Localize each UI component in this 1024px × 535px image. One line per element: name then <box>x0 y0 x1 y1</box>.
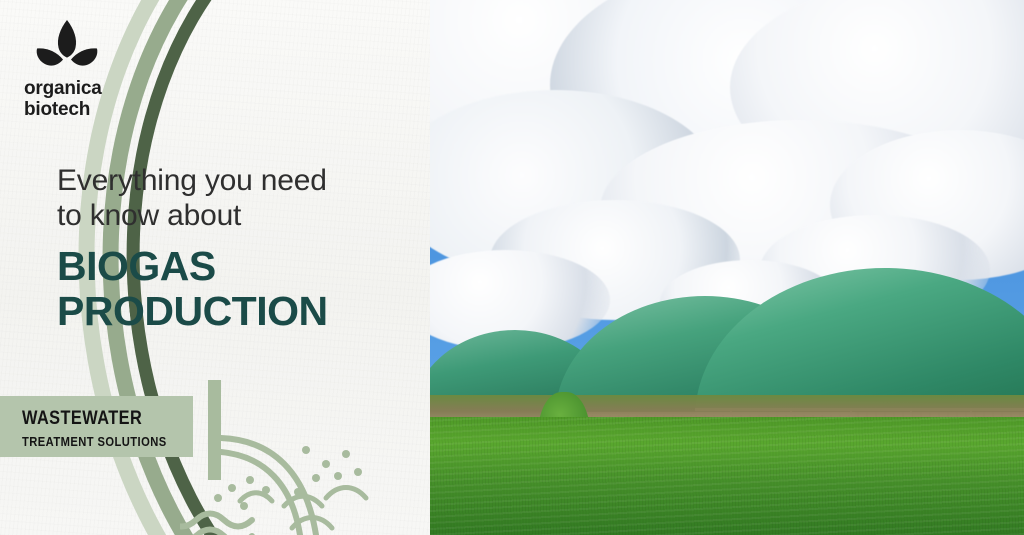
wastewater-badge: WASTEWATER TREATMENT SOLUTIONS <box>0 396 193 457</box>
badge-title: WASTEWATER <box>22 408 142 430</box>
brand-name-line1: organica <box>24 78 144 99</box>
headline-eyebrow: Everything you need to know about <box>57 163 407 233</box>
brand-wordmark: organica biotech <box>24 78 144 120</box>
headline-eyebrow-line2: to know about <box>57 198 407 233</box>
page-title-line2: PRODUCTION <box>57 289 407 334</box>
badge-subtitle: TREATMENT SOLUTIONS <box>22 434 167 449</box>
brand-logo[interactable]: organica biotech <box>24 18 144 120</box>
headline-eyebrow-line1: Everything you need <box>57 163 407 198</box>
biogas-banner: organica biotech Everything you need to … <box>0 0 1024 535</box>
headline-block: Everything you need to know about BIOGAS… <box>57 163 407 334</box>
brand-name-line2: biotech <box>24 99 144 120</box>
page-title-line1: BIOGAS <box>57 244 407 289</box>
pipe-discharge-water-icon <box>180 380 410 535</box>
three-leaf-icon <box>30 18 104 74</box>
page-title: BIOGAS PRODUCTION <box>57 244 407 334</box>
